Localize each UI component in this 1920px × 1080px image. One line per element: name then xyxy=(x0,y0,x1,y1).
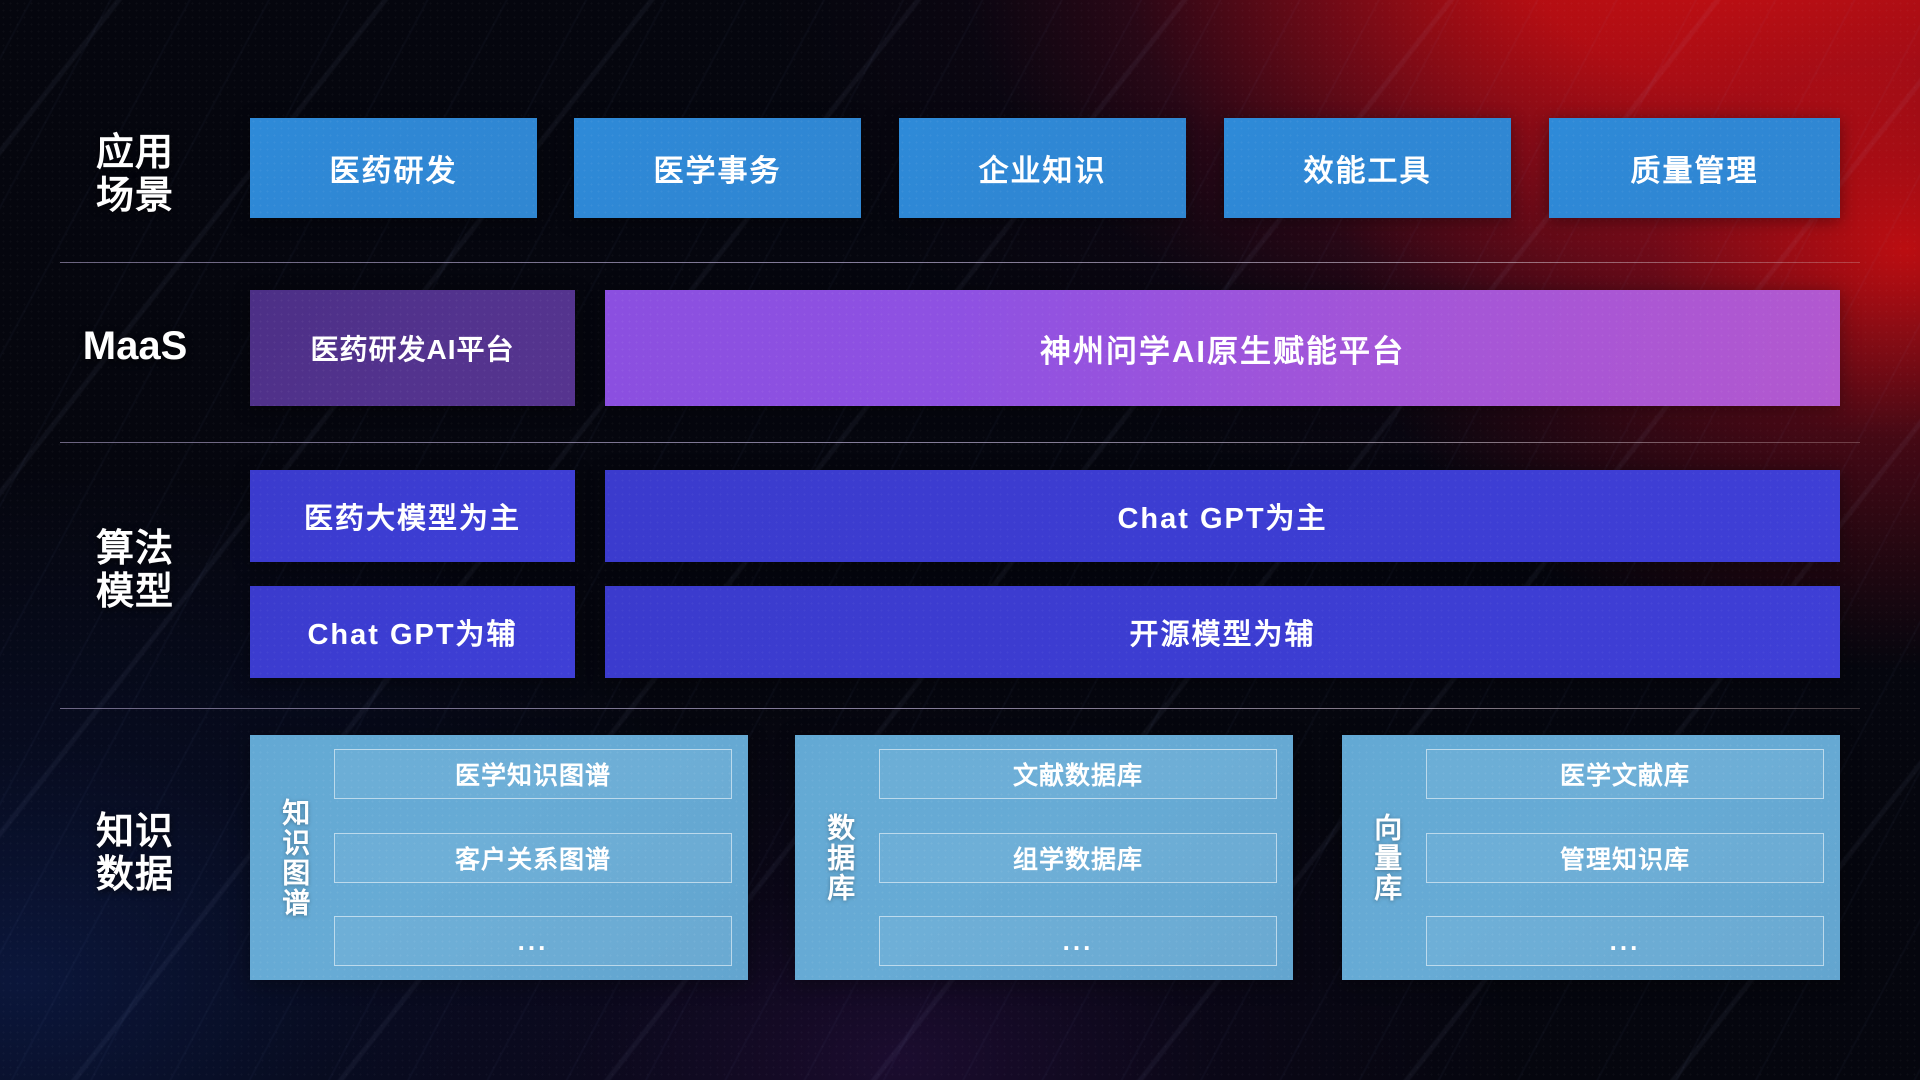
knowledge-panel-3-vertical-label: 向量库 xyxy=(1354,749,1418,966)
knowledge-item-2-3[interactable]: ... xyxy=(879,916,1277,966)
scenario-label-2: 医学事务 xyxy=(654,146,782,190)
knowledge-panel-1-items: 医学知识图谱 客户关系图谱 ... xyxy=(326,749,732,966)
scenario-label-5: 质量管理 xyxy=(1631,146,1759,190)
knowledge-panel-knowledge-graph[interactable]: 知识图谱 医学知识图谱 客户关系图谱 ... xyxy=(250,735,748,980)
knowledge-item-3-1[interactable]: 医学文献库 xyxy=(1426,749,1824,799)
scenario-box-4[interactable]: 效能工具 xyxy=(1224,118,1511,218)
architecture-diagram: 应用 场景 医药研发 医学事务 企业知识 效能工具 质量管理 MaaS xyxy=(0,0,1920,1080)
knowledge-panel-database[interactable]: 数据库 文献数据库 组学数据库 ... xyxy=(795,735,1293,980)
row-label-knowledge-data: 知识 数据 xyxy=(60,811,210,898)
scenario-label-4: 效能工具 xyxy=(1304,146,1432,190)
divider-2 xyxy=(60,442,1860,443)
row-label-kd-line-2: 数据 xyxy=(60,854,210,897)
row-knowledge-data: 知识 数据 知识图谱 医学知识图谱 客户关系图谱 ... 数据库 文献数据库 组… xyxy=(0,735,1920,980)
row-label-algo-line-1: 算法 xyxy=(60,528,210,571)
algorithm-label-row1-left: 医药大模型为主 xyxy=(304,495,521,537)
knowledge-item-1-1[interactable]: 医学知识图谱 xyxy=(334,749,732,799)
knowledge-panel-2-items: 文献数据库 组学数据库 ... xyxy=(871,749,1277,966)
knowledge-item-2-2[interactable]: 组学数据库 xyxy=(879,833,1277,883)
scenario-label-1: 医药研发 xyxy=(330,146,458,190)
row-label-kd-line-1: 知识 xyxy=(60,811,210,854)
row-label-algorithm-model: 算法 模型 xyxy=(60,528,210,615)
algorithm-label-row2-right: 开源模型为辅 xyxy=(1129,611,1315,653)
knowledge-panel-3-items: 医学文献库 管理知识库 ... xyxy=(1418,749,1824,966)
row-maas: MaaS 医药研发AI平台 神州问学AI原生赋能平台 xyxy=(0,290,1920,406)
scenario-box-3[interactable]: 企业知识 xyxy=(899,118,1186,218)
algorithm-box-row2-right[interactable]: 开源模型为辅 xyxy=(605,586,1840,678)
knowledge-panel-1-vertical-label: 知识图谱 xyxy=(262,749,326,966)
maas-left-label: 医药研发AI平台 xyxy=(310,328,514,368)
knowledge-item-2-1[interactable]: 文献数据库 xyxy=(879,749,1277,799)
divider-3 xyxy=(60,708,1860,709)
row-application-scenarios: 应用 场景 医药研发 医学事务 企业知识 效能工具 质量管理 xyxy=(0,118,1920,218)
algorithm-box-row2-left[interactable]: Chat GPT为辅 xyxy=(250,586,575,678)
row-label-maas: MaaS xyxy=(60,324,210,370)
algorithm-box-row1-right[interactable]: Chat GPT为主 xyxy=(605,470,1840,562)
scenario-box-2[interactable]: 医学事务 xyxy=(574,118,861,218)
knowledge-item-1-3[interactable]: ... xyxy=(334,916,732,966)
knowledge-panel-vector-store[interactable]: 向量库 医学文献库 管理知识库 ... xyxy=(1342,735,1840,980)
scenario-label-3: 企业知识 xyxy=(979,146,1107,190)
maas-right-label: 神州问学AI原生赋能平台 xyxy=(1040,326,1405,371)
row-label-application-scenarios: 应用 场景 xyxy=(60,132,210,219)
knowledge-item-3-2[interactable]: 管理知识库 xyxy=(1426,833,1824,883)
maas-box-shenzhou-wenxue-platform[interactable]: 神州问学AI原生赋能平台 xyxy=(605,290,1840,406)
knowledge-panel-2-vertical-label: 数据库 xyxy=(807,749,871,966)
scenario-box-5[interactable]: 质量管理 xyxy=(1549,118,1840,218)
algorithm-label-row1-right: Chat GPT为主 xyxy=(1117,495,1327,537)
row-label-line-1: 应用 xyxy=(60,132,210,175)
algorithm-label-row2-left: Chat GPT为辅 xyxy=(307,611,517,653)
row-label-algo-line-2: 模型 xyxy=(60,571,210,614)
maas-box-pharma-ai-platform[interactable]: 医药研发AI平台 xyxy=(250,290,575,406)
row-label-maas-text: MaaS xyxy=(60,324,210,370)
scenario-box-1[interactable]: 医药研发 xyxy=(250,118,537,218)
row-algorithm-model: 算法 模型 医药大模型为主 Chat GPT为主 Chat GPT为辅 开源模型… xyxy=(0,470,1920,680)
divider-1 xyxy=(60,262,1860,263)
knowledge-item-3-3[interactable]: ... xyxy=(1426,916,1824,966)
algorithm-box-row1-left[interactable]: 医药大模型为主 xyxy=(250,470,575,562)
knowledge-item-1-2[interactable]: 客户关系图谱 xyxy=(334,833,732,883)
row-label-line-2: 场景 xyxy=(60,175,210,218)
